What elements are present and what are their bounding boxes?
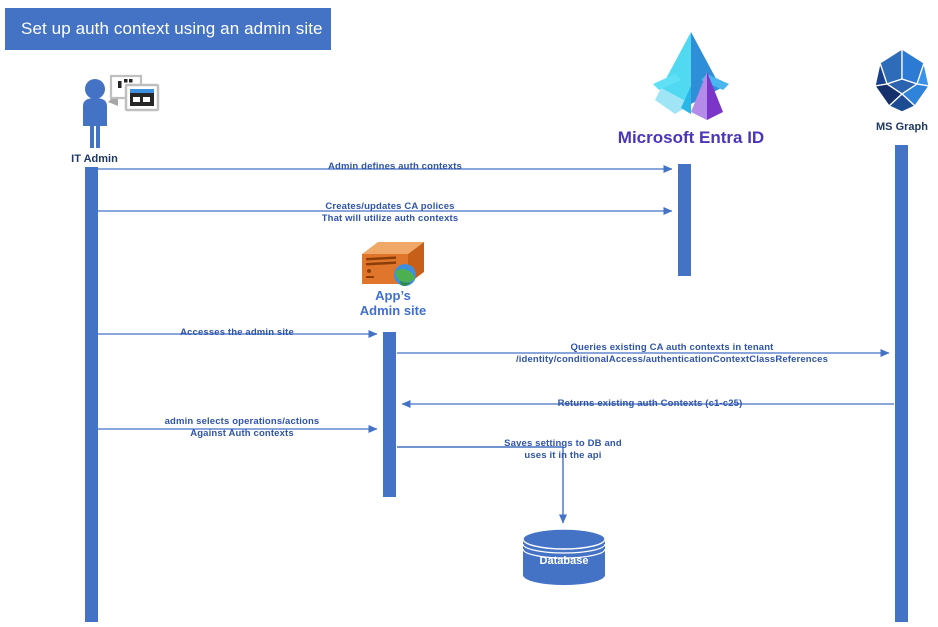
diagram-title-text: Set up auth context using an admin site: [5, 19, 323, 39]
message-label-m7-line2: uses it in the api: [455, 450, 671, 462]
participant-label-admin-site-line1: App’s: [340, 288, 446, 303]
message-label-m4-line2: /identity/conditionalAccess/authenticati…: [432, 354, 912, 366]
message-label-m2-line2: That will utilize auth contexts: [230, 213, 550, 225]
participant-label-admin-site-line2: Admin site: [340, 303, 446, 318]
participant-label-entra-id: Microsoft Entra ID: [598, 128, 784, 148]
message-label-m3: Accesses the admin site: [112, 327, 362, 339]
message-label-m1: Admin defines auth contexts: [240, 161, 550, 173]
microsoft-entra-id-logo-icon: [645, 28, 737, 128]
message-label-m7-line1: Saves settings to DB and: [455, 438, 671, 450]
lifeline-admin-site: [383, 332, 396, 497]
diagram-title-banner: Set up auth context using an admin site: [5, 8, 331, 50]
participant-label-it-admin: IT Admin: [52, 153, 137, 165]
it-admin-person-icon: [78, 70, 168, 150]
lifeline-it-admin: [85, 167, 98, 622]
lifeline-ms-graph: [895, 145, 908, 622]
message-label-m6-line2: Against Auth contexts: [112, 428, 372, 440]
database-label: Database: [521, 555, 607, 567]
lifeline-entra-id: [678, 164, 691, 276]
participant-label-ms-graph: MS Graph: [859, 121, 938, 133]
message-label-m5: Returns existing auth Contexts (c1-c25): [440, 398, 860, 410]
ms-graph-polyhedron-icon: [869, 46, 935, 116]
message-label-m4-line1: Queries existing CA auth contexts in ten…: [432, 342, 912, 354]
sequence-diagram-canvas: Set up auth context using an admin site …: [0, 0, 938, 627]
message-label-m2-line1: Creates/updates CA polices: [230, 201, 550, 213]
server-globe-icon: [356, 240, 428, 290]
message-label-m6-line1: admin selects operations/actions: [112, 416, 372, 428]
